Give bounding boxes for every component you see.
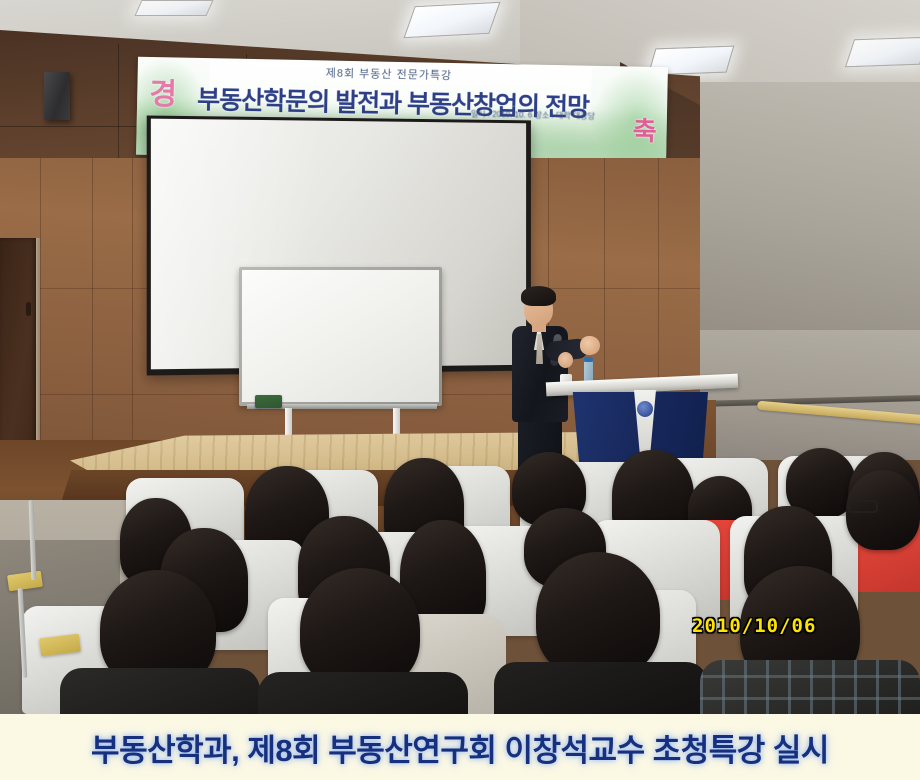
banner-congratulation-char-left: 경 — [149, 69, 176, 114]
water-bottle-cap — [584, 357, 593, 362]
photo-with-caption-page: 경 축 제8회 부동산 전문가특강 부동산학문의 발전과 부동산창업의 전망 일… — [0, 0, 920, 780]
eyeglasses-icon — [848, 500, 878, 513]
audience-torso — [60, 668, 260, 714]
ceiling-light-icon — [845, 37, 920, 68]
audience-torso — [700, 660, 920, 714]
banner-congratulation-char-right: 축 — [632, 111, 657, 148]
whiteboard — [239, 267, 442, 406]
audience-torso — [258, 672, 468, 714]
presenter-hair — [521, 286, 556, 306]
banner-subtitle: 제8회 부동산 전문가특강 — [326, 64, 453, 83]
audience-torso — [494, 662, 708, 714]
caption-title: 부동산학과, 제8회 부동산연구회 이창석교수 초청특강 실시 — [91, 725, 829, 770]
whiteboard-surface — [242, 270, 439, 402]
right-gray-wall — [700, 82, 920, 342]
camera-datestamp: 2010/10/06 — [692, 615, 816, 637]
door-handle-icon — [26, 302, 31, 316]
wall-speaker-icon — [44, 72, 70, 120]
ceiling-light-icon — [404, 2, 501, 38]
caption-band: 부동산학과, 제8회 부동산연구회 이창석교수 초청특강 실시 — [0, 714, 920, 780]
podium-emblem-icon — [636, 400, 654, 418]
ceiling-light-icon — [134, 0, 213, 16]
whiteboard-eraser-icon — [255, 395, 282, 408]
presenter-hand — [580, 336, 600, 355]
presenter — [498, 282, 588, 472]
presenter-hand — [558, 352, 573, 368]
audience-head — [536, 552, 660, 678]
lecture-hall-photo: 경 축 제8회 부동산 전문가특강 부동산학문의 발전과 부동산창업의 전망 일… — [0, 0, 920, 714]
